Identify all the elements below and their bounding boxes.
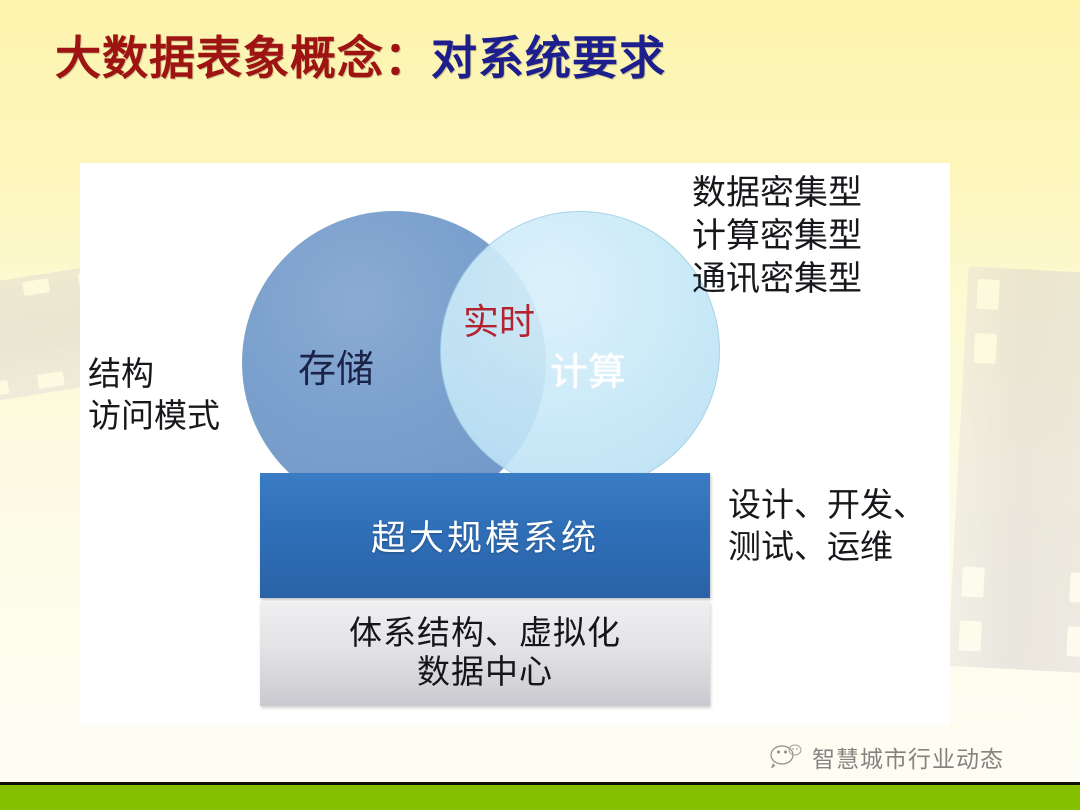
slide-title-part-a: 大数据表象概念：: [55, 33, 431, 84]
annotation-right-bottom: 设计、开发、 测试、运维: [728, 486, 926, 569]
bar-large-scale-system: 超大规模系统: [260, 473, 710, 598]
wechat-smiley-icon: [768, 742, 802, 773]
bar-infrastructure-line1: 体系结构、虚拟化: [349, 615, 621, 654]
slide-title: 大数据表象概念：对系统要求: [55, 22, 666, 88]
bar-infrastructure: 体系结构、虚拟化 数据中心: [260, 602, 710, 706]
slide-title-part-b: 对系统要求: [431, 33, 666, 84]
annotation-right-top: 数据密集型 计算密集型 通讯密集型: [692, 173, 862, 301]
venn-label-compute: 计算: [550, 341, 626, 396]
content-card: 存储 计算 实时 超大规模系统 体系结构、虚拟化 数据中心 结构 访问模式 数据…: [80, 163, 950, 725]
film-strip-right-decoration: [948, 266, 1080, 673]
venn-label-storage: 存储: [298, 338, 374, 393]
annotation-left: 结构 访问模式: [88, 355, 220, 438]
annotation-right-bottom-line1: 设计、开发、: [728, 486, 926, 528]
bar-infrastructure-line2: 数据中心: [417, 654, 553, 693]
slide-canvas: 大数据表象概念：对系统要求 存储 计算 实时 超大规模系统 体系结构、虚拟化 数…: [0, 0, 1080, 810]
annotation-right-top-line3: 通讯密集型: [692, 259, 862, 302]
annotation-left-line2: 访问模式: [88, 397, 220, 439]
watermark-text: 智慧城市行业动态: [812, 740, 1004, 774]
annotation-right-bottom-line2: 测试、运维: [728, 528, 926, 570]
venn-label-intersection-realtime: 实时: [463, 304, 511, 342]
annotation-left-line1: 结构: [88, 355, 220, 397]
footer-green-band: [0, 785, 1080, 810]
annotation-right-top-line2: 计算密集型: [692, 216, 862, 259]
bar-large-scale-system-label: 超大规模系统: [371, 510, 599, 561]
watermark: 智慧城市行业动态: [768, 740, 1004, 774]
annotation-right-top-line1: 数据密集型: [692, 173, 862, 216]
